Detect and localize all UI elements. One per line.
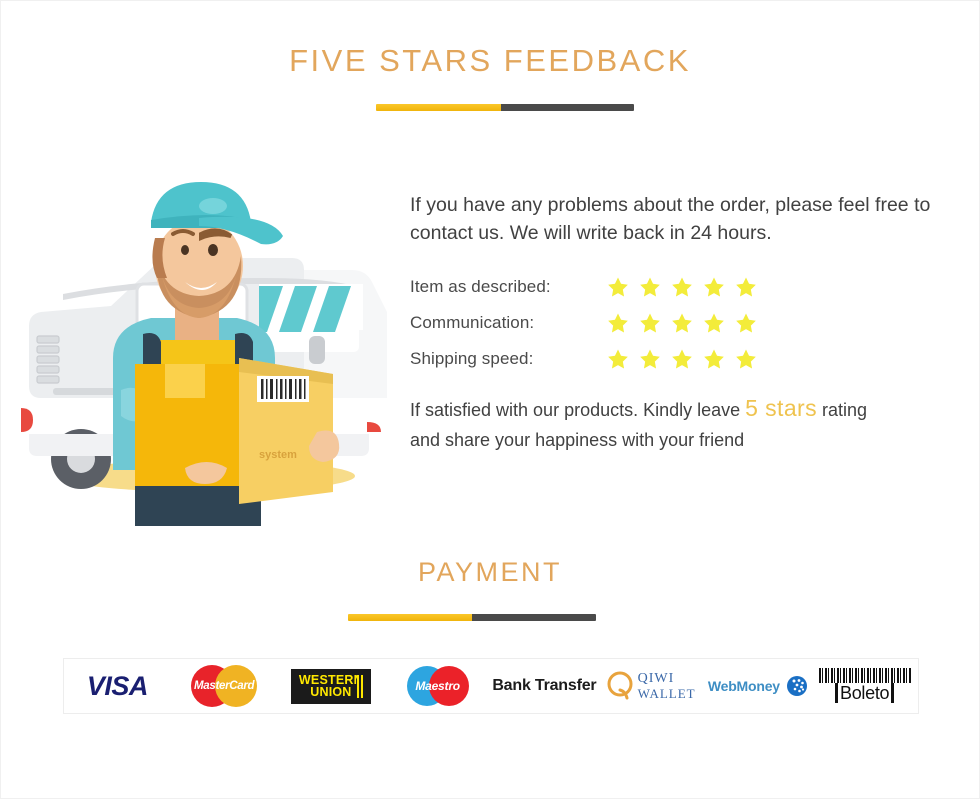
qiwi-line1: QIWI [638,671,696,686]
star-icon [639,348,661,370]
western-union-line2: UNION [299,686,363,699]
divider-dark-segment [472,614,596,621]
star-icon [703,312,725,334]
closing-text-part1: If satisfied with our products. Kindly l… [410,400,745,420]
rating-label-item-as-described: Item as described: [410,277,607,297]
rating-row: Shipping speed: [410,341,950,377]
payment-method-bank-transfer: Bank Transfer [491,659,598,713]
closing-text-part2: rating [817,400,867,420]
qiwi-text: QIWI WALLET [638,671,696,701]
divider-dark-segment [501,104,634,111]
visa-logo: VISA [87,671,148,702]
payment-method-mastercard: MasterCard [171,659,278,713]
payment-method-western-union: WESTERN UNION [278,659,385,713]
closing-text-line2: and share your happiness with your frien… [410,430,744,450]
payment-method-boleto: Boleto [811,659,918,713]
star-rating-shipping-speed [607,348,757,370]
rating-label-shipping-speed: Shipping speed: [410,349,607,369]
star-icon [703,276,725,298]
star-icon [671,312,693,334]
divider-yellow-segment [348,614,472,621]
maestro-logo: Maestro [407,666,469,706]
qiwi-q-icon [607,671,633,701]
boleto-barcode-icon [819,668,911,683]
webmoney-globe-icon [786,675,808,697]
star-icon [607,312,629,334]
payment-method-qiwi-wallet: QIWI WALLET [598,659,705,713]
star-icon [735,276,757,298]
star-icon [639,312,661,334]
payment-methods-strip: VISA MasterCard WESTERN UNION Maestro [63,658,919,714]
rating-row: Communication: [410,305,950,341]
qiwi-line2: WALLET [638,686,696,701]
feedback-copy-block: If you have any problems about the order… [410,191,950,455]
webmoney-logo: WebMoney [708,675,808,697]
star-icon [607,276,629,298]
boleto-logo: Boleto [819,668,911,704]
svg-text:system: system [259,449,297,461]
star-icon [735,348,757,370]
webmoney-label: WebMoney [708,678,780,694]
boleto-label: Boleto [835,683,894,703]
payment-method-visa: VISA [64,659,171,713]
maestro-label: Maestro [407,679,469,693]
star-icon [703,348,725,370]
divider-yellow-segment [376,104,501,111]
payment-divider [348,614,596,621]
rating-rows: Item as described: Communication: [410,269,950,377]
intro-text: If you have any problems about the order… [410,191,950,247]
western-union-bars-icon [357,675,365,698]
star-icon [671,348,693,370]
five-stars-feedback-title: FIVE STARS FEEDBACK [1,43,979,79]
western-union-logo: WESTERN UNION [291,669,371,704]
rating-row: Item as described: [410,269,950,305]
mastercard-label: MasterCard [191,680,257,692]
star-icon [639,276,661,298]
mastercard-logo: MasterCard [191,665,257,707]
feedback-divider [376,104,634,111]
star-icon [607,348,629,370]
delivery-courier-illustration: system [17,176,387,526]
star-icon [671,276,693,298]
payment-method-maestro: Maestro [384,659,491,713]
star-icon [735,312,757,334]
closing-text-highlight: 5 stars [745,395,817,421]
rating-label-communication: Communication: [410,313,607,333]
payment-title: PAYMENT [1,557,979,588]
star-rating-item-as-described [607,276,757,298]
qiwi-logo: QIWI WALLET [607,671,696,701]
bank-transfer-label: Bank Transfer [492,677,596,695]
payment-method-webmoney: WebMoney [705,659,812,713]
star-rating-communication [607,312,757,334]
feedback-payment-banner: FIVE STARS FEEDBACK [0,0,980,799]
closing-text: If satisfied with our products. Kindly l… [410,393,950,455]
